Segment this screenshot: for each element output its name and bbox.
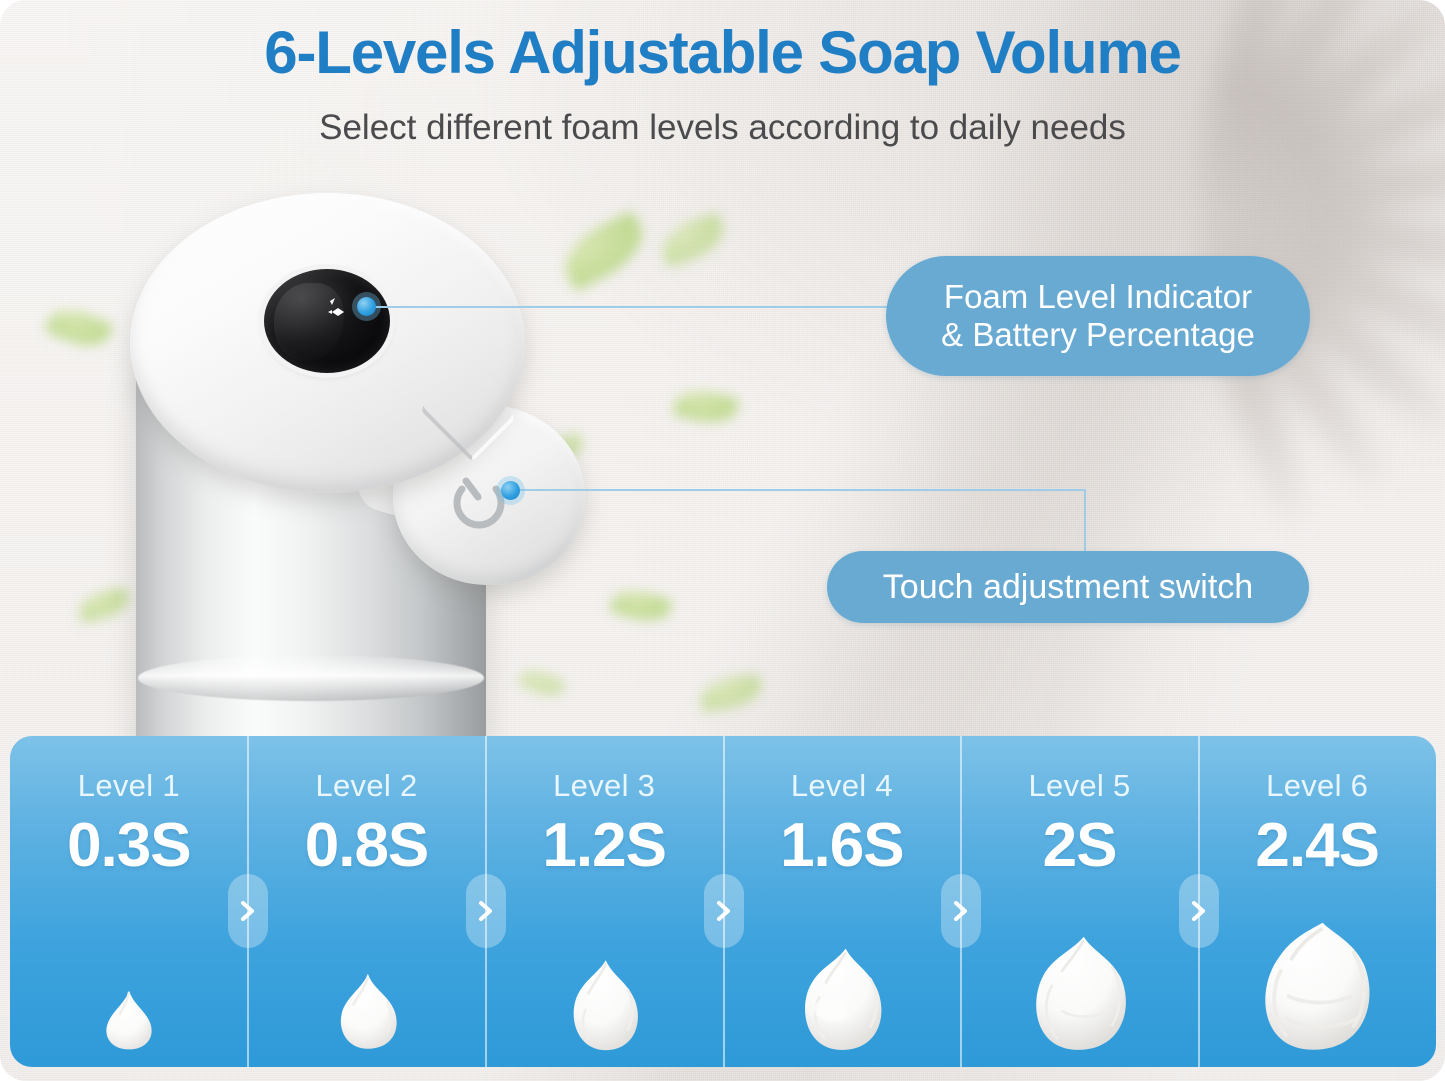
page-title: 6-Levels Adjustable Soap Volume	[0, 18, 1445, 87]
level-value: 1.2S	[542, 810, 666, 881]
chevron-right-icon	[466, 874, 506, 948]
power-icon	[446, 467, 512, 533]
level-column[interactable]: Level 1 0.3S	[10, 736, 248, 1067]
led-display-icon	[318, 297, 354, 331]
level-label: Level 6	[1266, 768, 1368, 804]
foam-dollop-1	[10, 911, 248, 1061]
callout-lead-line-1	[370, 306, 890, 308]
level-label: Level 5	[1028, 768, 1130, 804]
level-label: Level 2	[315, 768, 417, 804]
dispenser-body-ring	[138, 655, 484, 701]
level-column[interactable]: Level 5 2S	[961, 736, 1199, 1067]
level-comparison-bar: Level 1 0.3S Level 2 0.8S	[10, 736, 1436, 1067]
foam-dollop-6	[1198, 911, 1436, 1061]
soap-dispenser-image	[118, 185, 588, 745]
chevron-right-icon	[941, 874, 981, 948]
callout-anchor-dot-2	[501, 481, 520, 500]
level-label: Level 3	[553, 768, 655, 804]
callout-touch-adjustment-switch: Touch adjustment switch	[827, 551, 1309, 623]
foam-dollop-4	[723, 911, 961, 1061]
led-display-window	[264, 269, 390, 373]
callout-text-line-2: & Battery Percentage	[941, 316, 1255, 354]
level-value: 1.6S	[780, 810, 904, 881]
level-value: 0.8S	[305, 810, 429, 881]
callout-text-line-1: Foam Level Indicator	[944, 278, 1252, 316]
callout-lead-line-2v	[1084, 489, 1086, 553]
chevron-right-icon	[704, 874, 744, 948]
callout-anchor-dot-1	[357, 297, 376, 316]
page-subtitle: Select different foam levels according t…	[0, 108, 1445, 148]
level-column[interactable]: Level 6 2.4S	[1198, 736, 1436, 1067]
level-label: Level 4	[791, 768, 893, 804]
infographic-root: 6-Levels Adjustable Soap Volume Select d…	[0, 0, 1445, 1081]
level-value: 2.4S	[1255, 810, 1379, 881]
level-column[interactable]: Level 4 1.6S	[723, 736, 961, 1067]
level-column[interactable]: Level 3 1.2S	[485, 736, 723, 1067]
callout-text-line-1: Touch adjustment switch	[883, 568, 1253, 607]
callout-foam-level-indicator: Foam Level Indicator & Battery Percentag…	[886, 256, 1310, 376]
level-column[interactable]: Level 2 0.8S	[248, 736, 486, 1067]
chevron-right-icon	[228, 874, 268, 948]
foam-dollop-2	[248, 911, 486, 1061]
level-value: 2S	[1043, 810, 1117, 881]
chevron-right-icon	[1179, 874, 1219, 948]
foam-dollop-5	[961, 911, 1199, 1061]
level-value: 0.3S	[67, 810, 191, 881]
foam-dollop-3	[485, 911, 723, 1061]
callout-lead-line-2h	[516, 489, 1086, 491]
level-label: Level 1	[78, 768, 180, 804]
